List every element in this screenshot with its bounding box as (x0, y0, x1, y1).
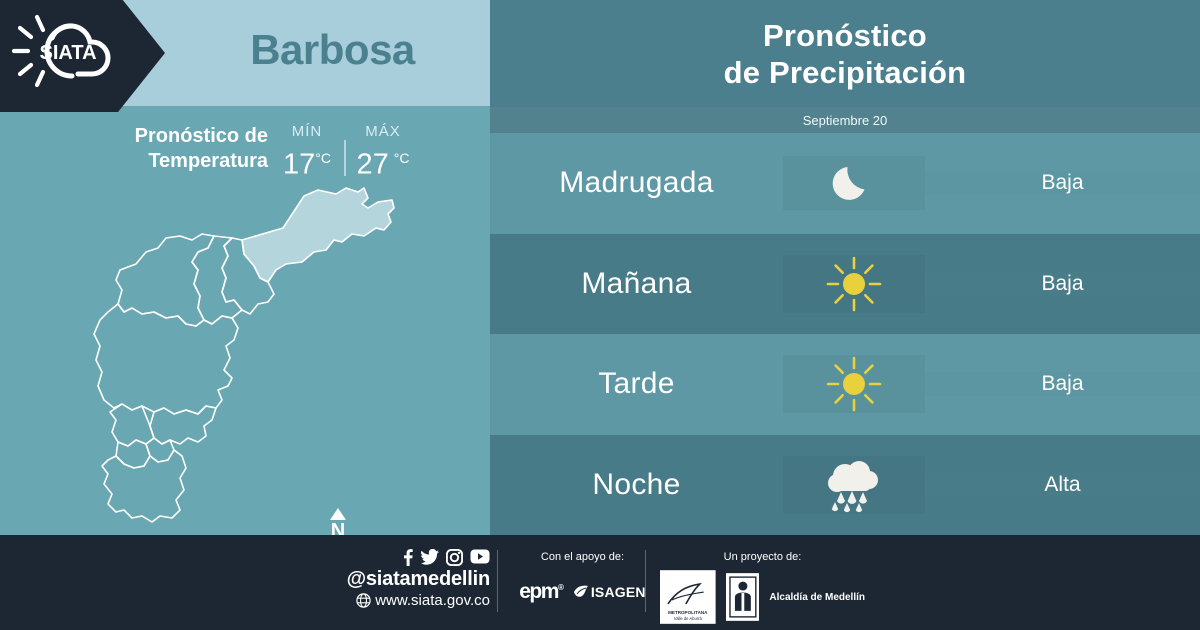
area-metropolitana-line1: METROPOLITANA (668, 610, 708, 615)
epm-logo: epm® (519, 580, 564, 604)
weather-icon-cell (783, 355, 925, 413)
forecast-rows: Madrugada Baja Mañana (490, 133, 1200, 535)
isagen-leaf-icon (573, 585, 589, 599)
footer-divider-1 (497, 550, 498, 612)
sun-icon (825, 255, 883, 313)
period-label: Tarde (490, 367, 783, 401)
forecast-row: Tarde (490, 334, 1200, 435)
website-row[interactable]: www.siata.gov.co (330, 591, 490, 610)
probability-label: Baja (925, 372, 1200, 396)
project-caption: Un proyecto de: (660, 551, 865, 563)
youtube-icon[interactable] (470, 549, 490, 564)
north-arrow-head (330, 508, 346, 520)
left-panel: SIATA Barbosa Pronóstico de Temperatura … (0, 0, 490, 535)
moon-icon (827, 156, 881, 210)
temperature-block: Pronóstico de Temperatura MÍN 17°C MÁX 2… (0, 112, 490, 182)
min-temperature: MÍN 17°C (276, 122, 338, 181)
footer: @siatamedellin www.siata.gov.co Con el a… (0, 535, 1200, 630)
forecast-row: Noche (490, 435, 1200, 536)
map-inner-boundary-2 (174, 450, 182, 456)
social-handle[interactable]: @siatamedellin (330, 568, 490, 591)
isagen-logo: ISAGEN (573, 584, 646, 600)
rain-cloud-icon (823, 456, 885, 514)
max-label: MÁX (352, 122, 414, 142)
temperature-divider (344, 140, 346, 176)
weather-icon-cell (783, 156, 925, 210)
area-metropolitana-logo: METROPOLITANA Valle de Aburrá (660, 570, 716, 624)
north-arrow: N (324, 508, 352, 535)
website-url[interactable]: www.siata.gov.co (375, 591, 490, 610)
municipality-map-svg (46, 178, 466, 530)
probability-label: Baja (925, 272, 1200, 296)
probability-label: Alta (925, 473, 1200, 497)
precipitation-title: Pronóstico de Precipitación (724, 17, 967, 91)
facebook-icon[interactable] (401, 549, 414, 566)
social-block: @siatamedellin www.siata.gov.co (330, 549, 490, 610)
support-block: Con el apoyo de: epm® ISAGEN (510, 551, 655, 604)
instagram-icon[interactable] (446, 549, 463, 566)
min-value: 17 (283, 149, 315, 181)
twitter-icon[interactable] (421, 549, 439, 566)
probability-label: Baja (925, 171, 1200, 195)
weather-icon-cell (783, 255, 925, 313)
map-region-envigado (150, 406, 216, 444)
max-unit: °C (394, 150, 410, 166)
map-region-itagui (110, 404, 154, 446)
forecast-row: Madrugada Baja (490, 133, 1200, 234)
epm-registered-mark: ® (558, 583, 564, 592)
forecast-row: Mañana (490, 234, 1200, 335)
siata-logo-text: SIATA (39, 42, 96, 64)
weather-forecast-infographic: SIATA Barbosa Pronóstico de Temperatura … (0, 0, 1200, 630)
period-label: Noche (490, 468, 783, 502)
alcaldia-de-medellin-logo (726, 573, 760, 621)
area-metropolitana-line2: Valle de Aburrá (674, 616, 703, 621)
globe-icon (356, 593, 371, 608)
weather-icon-cell (783, 456, 925, 514)
forecast-date: Septiembre 20 (490, 107, 1200, 133)
precipitation-title-line1: Pronóstico (763, 18, 927, 53)
siata-sun-cloud-logo: SIATA (12, 12, 132, 90)
city-title: Barbosa (175, 0, 490, 106)
min-label: MÍN (276, 122, 338, 142)
alcaldia-de-medellin-label: Alcaldía de Medellín (769, 592, 865, 603)
project-block: Un proyecto de: METROPOLITANA Valle de A… (660, 551, 865, 624)
epm-label: epm (519, 580, 558, 603)
map-region-barbosa (242, 188, 394, 282)
period-label: Madrugada (490, 166, 783, 200)
support-caption: Con el apoyo de: (510, 551, 655, 563)
precipitation-header: Pronóstico de Precipitación (490, 0, 1200, 107)
max-temperature: MÁX 27°C (352, 122, 414, 181)
map-inner-boundary-1 (232, 318, 238, 328)
project-logos: METROPOLITANA Valle de Aburrá Alcaldía d… (660, 570, 865, 624)
precipitation-panel: Pronóstico de Precipitación Septiembre 2… (490, 0, 1200, 535)
temperature-heading: Pronóstico de Temperatura (86, 124, 268, 174)
min-unit: °C (315, 150, 331, 166)
max-value-row: 27°C (352, 142, 414, 181)
map-region-caldas (102, 450, 186, 522)
map-region-bello (116, 234, 214, 326)
social-icons (330, 549, 490, 566)
sun-icon (825, 355, 883, 413)
min-value-row: 17°C (276, 142, 338, 181)
temperature-heading-line2: Temperatura (148, 150, 268, 172)
precipitation-title-line2: de Precipitación (724, 55, 967, 90)
north-label: N (324, 521, 352, 535)
period-label: Mañana (490, 267, 783, 301)
map-region-medellin (94, 304, 238, 414)
footer-divider-2 (645, 550, 646, 612)
temperature-heading-line1: Pronóstico de (135, 125, 268, 147)
max-value: 27 (357, 149, 389, 181)
support-logos: epm® ISAGEN (510, 580, 655, 604)
temperature-values: MÍN 17°C MÁX 27°C (276, 122, 414, 181)
aburra-valley-map: N (46, 178, 466, 530)
isagen-label: ISAGEN (591, 584, 646, 600)
